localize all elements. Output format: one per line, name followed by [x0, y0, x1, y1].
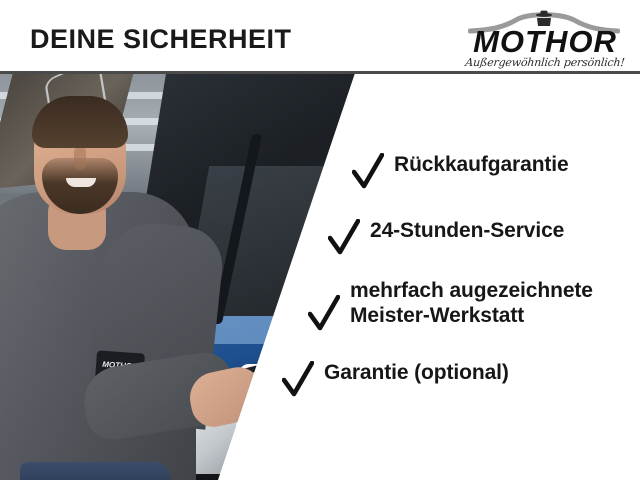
brand-logo: MOTHOR Außergewöhnlich persönlich! [460, 6, 630, 70]
list-item-label: mehrfach augezeichnete Meister-Werkstatt [350, 279, 593, 329]
promo-banner: MOTHOR Rückkaufgarantie 24-Stunden-Servi… [0, 0, 640, 480]
checkmark-icon [328, 219, 360, 257]
checkmark-icon [282, 361, 314, 399]
list-item: 24-Stunden-Service [328, 219, 564, 257]
logo-tagline: Außergewöhnlich persönlich! [459, 56, 630, 69]
logo-wordmark: MOTHOR [460, 26, 630, 57]
benefits-list: Rückkaufgarantie 24-Stunden-Service mehr… [0, 73, 640, 480]
list-item: Rückkaufgarantie [352, 153, 569, 191]
list-item-label: Rückkaufgarantie [394, 153, 569, 178]
list-item-label: 24-Stunden-Service [370, 219, 564, 244]
banner-header: DEINE SICHERHEIT MOTHOR Außergewöhnlich … [0, 0, 640, 73]
page-title: DEINE SICHERHEIT [30, 24, 292, 55]
list-item-label: Garantie (optional) [324, 361, 509, 386]
checkmark-icon [308, 295, 340, 333]
list-item: mehrfach augezeichnete Meister-Werkstatt [308, 279, 593, 333]
header-divider [0, 71, 640, 74]
checkmark-icon [352, 153, 384, 191]
list-item: Garantie (optional) [282, 361, 509, 399]
